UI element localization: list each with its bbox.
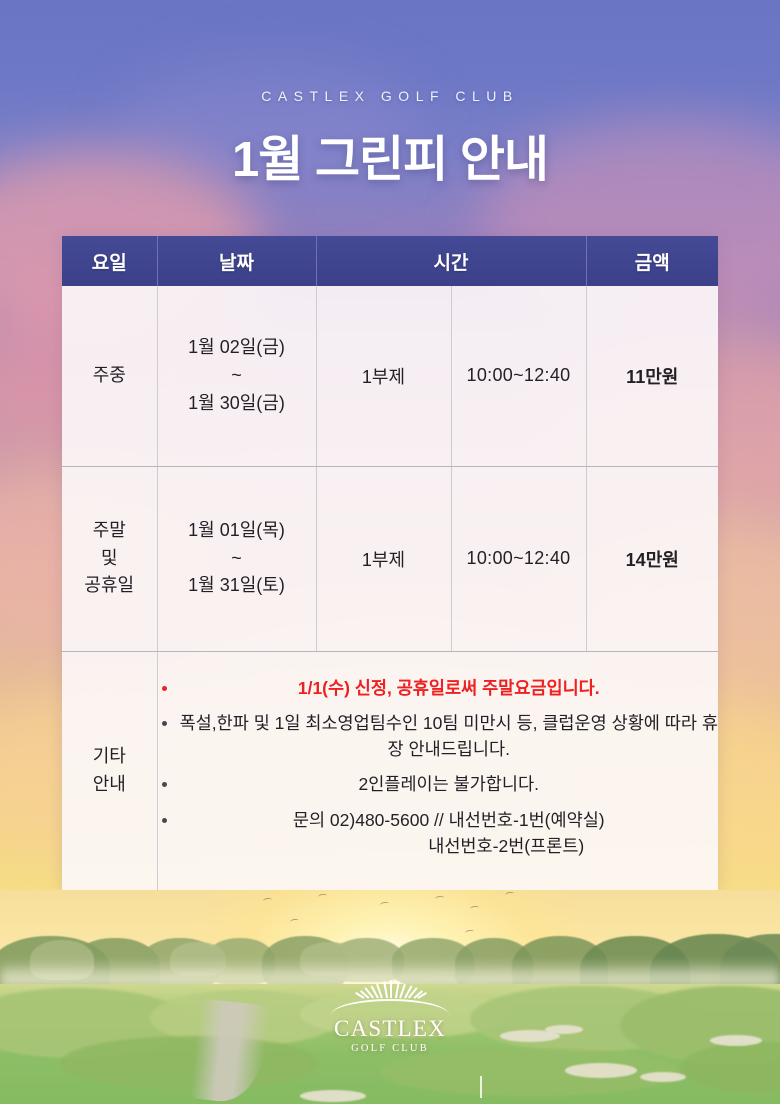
column-header-date: 날짜	[157, 236, 316, 286]
column-header-price: 금액	[586, 236, 718, 286]
logo-name: CASTLEX	[295, 1017, 485, 1041]
table-row: 주중 1월 02일(금) ~ 1월 30일(금) 1부제 10:00~12:40…	[62, 286, 718, 466]
table-row-notes: 기타 안내 1/1(수) 신정, 공휴일로써 주말요금입니다. 폭설,한파 및 …	[62, 651, 718, 891]
note-item: 문의 02)480-5600 // 내선번호-1번(예약실)내선번호-2번(프론…	[158, 807, 719, 860]
cell-part: 1부제	[316, 466, 451, 651]
brand-line: CASTLEX GOLF CLUB	[0, 88, 780, 104]
crown-icon	[295, 978, 485, 998]
cell-notes: 1/1(수) 신정, 공휴일로써 주말요금입니다. 폭설,한파 및 1일 최소영…	[157, 651, 718, 891]
cell-notes-label: 기타 안내	[62, 651, 157, 891]
flag-pole	[480, 1076, 482, 1098]
crown-spoke	[383, 981, 388, 998]
poster-canvas: CASTLEX GOLF CLUB 1월 그린피 안내 요일 날짜 시간 금액 …	[0, 0, 780, 1104]
cell-day: 주중	[62, 286, 157, 466]
cell-price: 14만원	[586, 466, 718, 651]
table-body: 주중 1월 02일(금) ~ 1월 30일(금) 1부제 10:00~12:40…	[62, 286, 718, 891]
column-header-day: 요일	[62, 236, 157, 286]
castlex-logo: CASTLEX GOLF CLUB	[295, 978, 485, 1054]
cell-date: 1월 02일(금) ~ 1월 30일(금)	[157, 286, 316, 466]
logo-subtitle: GOLF CLUB	[295, 1043, 485, 1054]
sand-bunker	[545, 1025, 583, 1034]
sand-bunker	[710, 1035, 762, 1046]
sand-bunker	[565, 1063, 637, 1078]
logo-arc	[331, 999, 449, 1015]
notes-list: 1/1(수) 신정, 공휴일로써 주말요금입니다. 폭설,한파 및 1일 최소영…	[158, 675, 719, 860]
cell-day: 주말 및 공휴일	[62, 466, 157, 651]
page-title: 1월 그린피 안내	[0, 120, 780, 191]
cell-time: 10:00~12:40	[451, 286, 586, 466]
column-header-time: 시간	[316, 236, 586, 286]
cell-price: 11만원	[586, 286, 718, 466]
fee-table: 요일 날짜 시간 금액 주중 1월 02일(금) ~ 1월 30일(금) 1부제…	[62, 236, 718, 891]
sand-bunker	[300, 1090, 366, 1102]
note-item: 2인플레이는 불가합니다.	[158, 771, 719, 797]
note-contact-line1: 문의 02)480-5600 // 내선번호-1번(예약실)	[293, 810, 605, 830]
table-row: 주말 및 공휴일 1월 01일(목) ~ 1월 31일(토) 1부제 10:00…	[62, 466, 718, 651]
sand-bunker	[640, 1072, 686, 1082]
crown-spoke	[390, 980, 392, 998]
note-item: 1/1(수) 신정, 공휴일로써 주말요금입니다.	[158, 675, 719, 701]
note-item: 폭설,한파 및 1일 최소영업팀수인 10팀 미만시 등, 클럽운영 상황에 따…	[158, 710, 719, 763]
fee-table-wrapper: 요일 날짜 시간 금액 주중 1월 02일(금) ~ 1월 30일(금) 1부제…	[62, 236, 718, 891]
table-header-row: 요일 날짜 시간 금액	[62, 236, 718, 286]
cell-time: 10:00~12:40	[451, 466, 586, 651]
table-head: 요일 날짜 시간 금액	[62, 236, 718, 286]
note-contact-line2: 내선번호-2번(프론트)	[180, 833, 719, 859]
cell-part: 1부제	[316, 286, 451, 466]
cell-date: 1월 01일(목) ~ 1월 31일(토)	[157, 466, 316, 651]
